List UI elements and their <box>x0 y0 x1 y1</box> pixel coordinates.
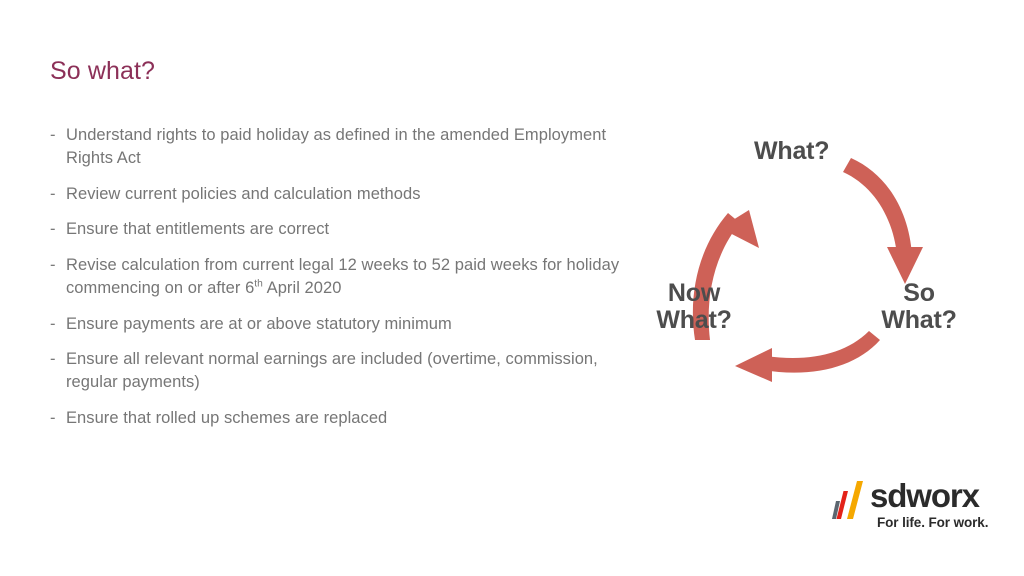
list-item-text-main: Review current policies and calculation … <box>66 185 421 203</box>
list-item-text-tail: April 2020 <box>263 279 342 297</box>
list-item-text-main: Ensure all relevant normal earnings are … <box>66 350 598 391</box>
sdworx-logo: sdworx For life. For work. <box>832 479 992 535</box>
page-title: So what? <box>50 56 155 86</box>
list-item: - Ensure all relevant normal earnings ar… <box>50 348 625 395</box>
cycle-node-so-what: So What? <box>864 280 974 333</box>
list-item: - Ensure that entitlements are correct <box>50 218 625 241</box>
list-item: - Review current policies and calculatio… <box>50 183 625 206</box>
bullet-marker: - <box>50 348 66 371</box>
list-item-text: Ensure payments are at or above statutor… <box>66 313 625 336</box>
list-item: - Revise calculation from current legal … <box>50 254 625 301</box>
list-item-text-main: Ensure payments are at or above statutor… <box>66 315 452 333</box>
arrow-what-to-so-what-icon <box>843 158 923 284</box>
list-item-text-main: Ensure that entitlements are correct <box>66 220 329 238</box>
arrow-so-what-to-now-what-icon <box>735 331 880 382</box>
list-item-text-main: Revise calculation from current legal 12… <box>66 256 619 297</box>
sdworx-wordmark: sdworx <box>870 479 979 514</box>
list-item-text: Ensure that entitlements are correct <box>66 218 625 241</box>
list-item-text-main: Understand rights to paid holiday as def… <box>66 126 606 167</box>
list-item-text: Understand rights to paid holiday as def… <box>66 124 625 171</box>
bullet-marker: - <box>50 407 66 430</box>
list-item-text: Ensure that rolled up schemes are replac… <box>66 407 625 430</box>
list-item-text: Revise calculation from current legal 12… <box>66 254 625 301</box>
list-item: - Ensure payments are at or above statut… <box>50 313 625 336</box>
list-item-text: Review current policies and calculation … <box>66 183 625 206</box>
bullet-marker: - <box>50 183 66 206</box>
bullet-marker: - <box>50 218 66 241</box>
slide-canvas: So what? - Understand rights to paid hol… <box>0 0 1024 576</box>
sdworx-tagline: For life. For work. <box>877 515 988 530</box>
cycle-diagram-arrows <box>636 128 986 394</box>
list-item: - Ensure that rolled up schemes are repl… <box>50 407 625 430</box>
bullet-list: - Understand rights to paid holiday as d… <box>50 124 625 442</box>
cycle-node-now-what: Now What? <box>638 280 750 333</box>
ordinal-superscript: th <box>254 279 263 290</box>
bullet-marker: - <box>50 254 66 277</box>
sdworx-logo-mark-icon <box>832 481 872 519</box>
cycle-diagram: What? So What? Now What? <box>636 128 986 394</box>
list-item: - Understand rights to paid holiday as d… <box>50 124 625 171</box>
bullet-marker: - <box>50 313 66 336</box>
list-item-text-main: Ensure that rolled up schemes are replac… <box>66 409 387 427</box>
bullet-marker: - <box>50 124 66 147</box>
list-item-text: Ensure all relevant normal earnings are … <box>66 348 625 395</box>
cycle-node-what: What? <box>754 138 829 165</box>
